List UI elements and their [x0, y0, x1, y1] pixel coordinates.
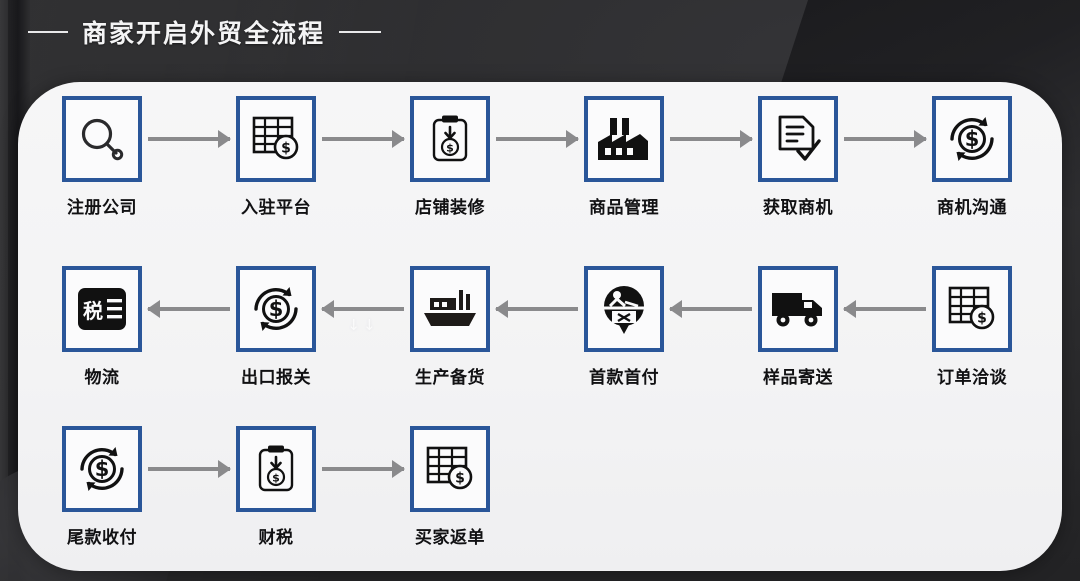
arrow-head [392, 130, 405, 148]
arrow-head [740, 130, 753, 148]
svg-text:$: $ [446, 142, 454, 155]
dollar-refresh-icon: $ [945, 112, 999, 166]
flow-node-icon-box[interactable] [584, 96, 664, 182]
flow-node[interactable]: 首款首付 [578, 266, 670, 388]
arrow-head [218, 460, 231, 478]
svg-text:$: $ [281, 141, 291, 157]
flow-arrow [670, 96, 752, 182]
flow-node-icon-box[interactable]: $ [932, 266, 1012, 352]
delivery-truck-icon [770, 288, 826, 330]
flow-node[interactable]: 样品寄送 [752, 266, 844, 388]
flow-node-icon-box[interactable]: $ [236, 266, 316, 352]
arrow-head [321, 300, 334, 318]
flow-node-label: 注册公司 [67, 193, 137, 218]
flow-node-label: 商机沟通 [937, 193, 1007, 218]
cargo-ship-icon [422, 287, 478, 331]
factory-icon [596, 115, 652, 163]
arrow-shaft [322, 307, 404, 311]
flow-node-icon-box[interactable] [758, 96, 838, 182]
flow-arrow [496, 266, 578, 352]
flow-node-label: 生产备货 [415, 363, 485, 388]
flow-node[interactable]: $ 财税 [230, 426, 322, 548]
flow-arrow: ↓↓ [322, 266, 404, 352]
flow-node-icon-box[interactable]: $ [410, 96, 490, 182]
flow-node-icon-box[interactable]: $ [62, 426, 142, 512]
page-title-text: 商家开启外贸全流程 [82, 14, 325, 50]
flow-node[interactable]: 商品管理 [578, 96, 670, 218]
flow-node-icon-box[interactable]: $ [236, 96, 316, 182]
arrow-shaft [670, 307, 752, 311]
spreadsheet-dollar-icon: $ [424, 444, 476, 494]
flow-arrow [322, 96, 404, 182]
flow-node-label: 出口报关 [241, 363, 311, 388]
flow-node-label: 物流 [85, 363, 120, 388]
arrow-head [495, 300, 508, 318]
svg-text:$: $ [977, 311, 987, 327]
flow-node[interactable]: $ 店铺装修 [404, 96, 496, 218]
tax-badge-icon: 税 [76, 286, 128, 332]
flow-node-label: 财税 [259, 523, 294, 548]
desk-pin-icon [598, 282, 650, 336]
flow-node-label: 获取商机 [763, 193, 833, 218]
magnifier-icon [76, 113, 128, 165]
arrow-shaft [844, 307, 926, 311]
svg-text:税: 税 [83, 299, 103, 323]
flow-panel: 注册公司 $ 入驻平台 $ 店铺装修 商品管理 获取商机 [18, 82, 1062, 571]
flow-node-label: 首款首付 [589, 363, 659, 388]
title-dash-left [28, 31, 68, 33]
flow-node-icon-box[interactable] [410, 266, 490, 352]
svg-text:$: $ [95, 457, 110, 481]
flow-row-3: $ 尾款收付 $ 财税 $ 买家返单 [56, 426, 496, 548]
svg-text:$: $ [269, 297, 284, 321]
flow-node[interactable]: $ 入驻平台 [230, 96, 322, 218]
document-check-icon [773, 113, 823, 165]
flow-node[interactable]: 注册公司 [56, 96, 148, 218]
clipboard-dollar-download-icon: $ [428, 113, 472, 165]
flow-node[interactable]: $ 出口报关 [230, 266, 322, 388]
arrow-head [914, 130, 927, 148]
flow-row-1: 注册公司 $ 入驻平台 $ 店铺装修 商品管理 获取商机 [56, 96, 1018, 218]
arrow-head [843, 300, 856, 318]
dollar-refresh-icon: $ [249, 282, 303, 336]
flow-node-label: 订单洽谈 [937, 363, 1007, 388]
svg-text:$: $ [455, 471, 465, 487]
flow-node-icon-box[interactable]: $ [236, 426, 316, 512]
title-dash-right [339, 31, 381, 33]
flow-node-label: 入驻平台 [241, 193, 311, 218]
flow-arrow [148, 266, 230, 352]
spreadsheet-dollar-icon: $ [946, 284, 998, 334]
flow-node[interactable]: $ 尾款收付 [56, 426, 148, 548]
flow-arrow [322, 426, 404, 512]
arrow-head [566, 130, 579, 148]
flow-arrow [148, 426, 230, 512]
flow-arrow [496, 96, 578, 182]
flow-node-label: 样品寄送 [763, 363, 833, 388]
arrow-shaft [148, 307, 230, 311]
flow-arrow [670, 266, 752, 352]
flow-node[interactable]: 生产备货 [404, 266, 496, 388]
svg-text:$: $ [272, 472, 280, 485]
flow-node-icon-box[interactable] [62, 96, 142, 182]
flow-node-icon-box[interactable]: $ [932, 96, 1012, 182]
arrow-head [147, 300, 160, 318]
flow-node-label: 买家返单 [415, 523, 485, 548]
page-title: 商家开启外贸全流程 [28, 14, 381, 50]
flow-node[interactable]: 获取商机 [752, 96, 844, 218]
arrow-shaft [496, 307, 578, 311]
arrow-head [218, 130, 231, 148]
flow-node-icon-box[interactable]: $ [410, 426, 490, 512]
dollar-refresh-icon: $ [75, 442, 129, 496]
watermark-text: ↓↓ [347, 316, 378, 334]
arrow-head [669, 300, 682, 318]
flow-arrow [148, 96, 230, 182]
flow-node-label: 店铺装修 [415, 193, 485, 218]
flow-arrow [844, 266, 926, 352]
flow-node-label: 商品管理 [589, 193, 659, 218]
flow-node-label: 尾款收付 [67, 523, 137, 548]
flow-node-icon-box[interactable] [758, 266, 838, 352]
flow-node[interactable]: 税 物流 [56, 266, 148, 388]
flow-node[interactable]: $ 商机沟通 [926, 96, 1018, 218]
spreadsheet-dollar-icon: $ [250, 114, 302, 164]
flow-arrow [844, 96, 926, 182]
flow-node[interactable]: $ 买家返单 [404, 426, 496, 548]
flow-node[interactable]: $ 订单洽谈 [926, 266, 1018, 388]
svg-text:$: $ [965, 127, 980, 151]
flow-node-icon-box[interactable] [584, 266, 664, 352]
flow-row-2: 税 物流 $ 出口报关↓↓ 生产备货 首款首付 [56, 266, 1018, 388]
flow-node-icon-box[interactable]: 税 [62, 266, 142, 352]
arrow-head [392, 460, 405, 478]
clipboard-dollar-download-icon: $ [254, 443, 298, 495]
screenshot-root: 商家开启外贸全流程 注册公司 $ 入驻平台 $ 店铺装修 商品管理 [0, 0, 1080, 581]
